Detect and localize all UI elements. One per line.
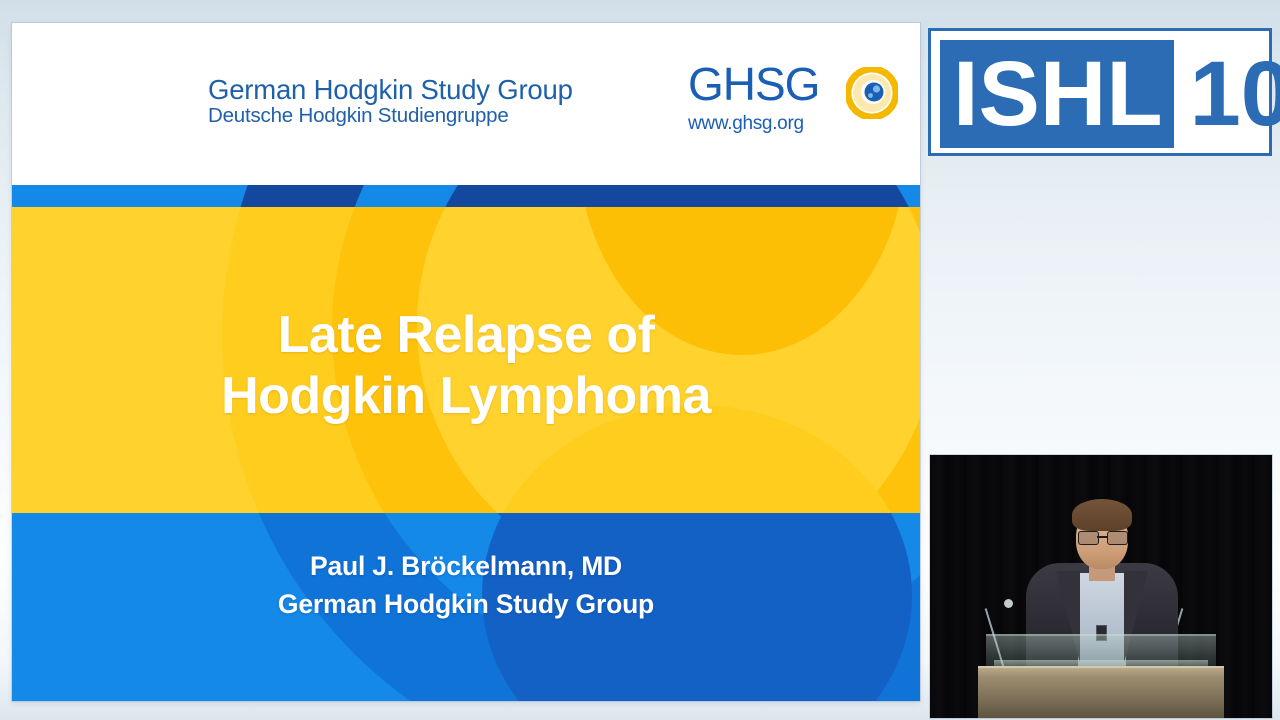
ghsg-logo: GHSG www.ghsg.org xyxy=(684,65,904,150)
slide-accent-band xyxy=(12,185,920,207)
band-ring-inner-b xyxy=(417,185,920,207)
podium-base xyxy=(978,666,1224,718)
ghsg-cell-icon xyxy=(846,67,898,119)
slide-background: Late Relapse of Hodgkin Lymphoma Paul J.… xyxy=(12,185,920,701)
ghsg-name-english: German Hodgkin Study Group xyxy=(208,76,648,104)
speaker-glasses-icon xyxy=(1077,531,1127,543)
speaker-hair xyxy=(1072,499,1132,531)
ghsg-name-german: Deutsche Hodgkin Studiengruppe xyxy=(208,106,648,127)
ghsg-website: www.ghsg.org xyxy=(688,114,804,133)
ishl-edition-number: 10 xyxy=(1174,40,1280,148)
slide-presenter: Paul J. Bröckelmann, MD German Hodgkin S… xyxy=(12,547,920,624)
speaker-video-thumbnail[interactable] xyxy=(930,455,1272,718)
slide-panel[interactable]: Late Relapse of Hodgkin Lymphoma Paul J.… xyxy=(12,23,920,701)
ishl-mark-text: ISHL xyxy=(940,40,1174,148)
ghsg-wordmark: German Hodgkin Study Group Deutsche Hodg… xyxy=(208,76,648,127)
ishl-logo-panel: ISHL 10 xyxy=(928,28,1272,156)
microphone-head-left xyxy=(1004,599,1013,608)
slide-header: German Hodgkin Study Group Deutsche Hodg… xyxy=(12,23,920,185)
ghsg-abbreviation: GHSG xyxy=(688,61,819,107)
slide-title: Late Relapse of Hodgkin Lymphoma xyxy=(12,305,920,428)
presentation-viewer: Late Relapse of Hodgkin Lymphoma Paul J.… xyxy=(0,0,1280,720)
